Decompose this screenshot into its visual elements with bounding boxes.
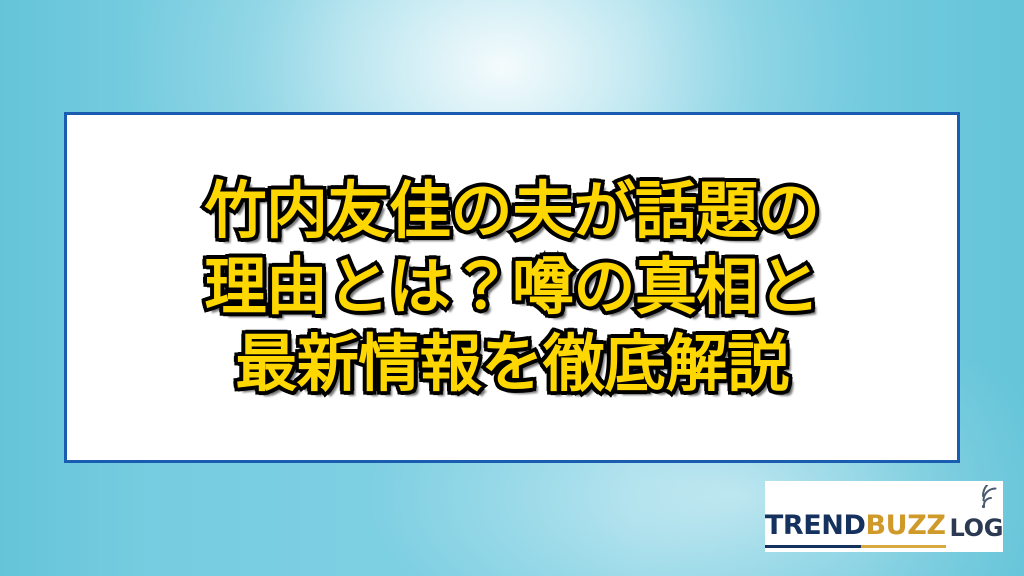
site-logo[interactable]: TREND BUZZ LOG (765, 481, 1003, 552)
page-title: 竹内友佳の夫が話題の 理由とは？噂の真相と 最新情報を徹底解説 (204, 173, 819, 402)
logo-text-buzz: BUZZ (865, 512, 945, 539)
headline-line-1: 竹内友佳の夫が話題の (204, 173, 819, 249)
logo-text-log: LOG (950, 516, 1004, 540)
logo-wordmark: TREND BUZZ (765, 512, 946, 539)
headline-line-3: 最新情報を徹底解説 (204, 326, 819, 402)
logo-underline-bar (765, 545, 946, 548)
logo-text-trend: TREND (765, 512, 866, 539)
wifi-signal-icon (979, 485, 1005, 509)
headline-card: 竹内友佳の夫が話題の 理由とは？噂の真相と 最新情報を徹底解説 (64, 112, 960, 463)
thumbnail-canvas: 竹内友佳の夫が話題の 理由とは？噂の真相と 最新情報を徹底解説 TREND BU… (0, 0, 1024, 576)
headline-line-2: 理由とは？噂の真相と (204, 249, 819, 325)
